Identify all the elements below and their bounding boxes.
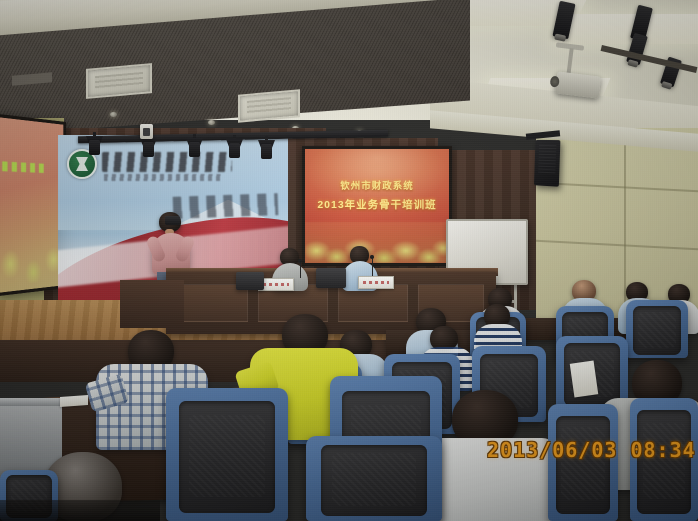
microphone-stem-right — [372, 258, 373, 276]
banner-subtitle-text — [104, 174, 222, 181]
podium — [120, 280, 184, 328]
side-screen-floral-decor — [0, 231, 63, 286]
air-vent-2 — [238, 89, 300, 122]
side-screen-text — [2, 161, 44, 173]
slide-floral-decor — [305, 222, 449, 263]
spotlight-3 — [186, 138, 203, 158]
banner-calligraphy-text — [173, 193, 279, 219]
seat-near-4[interactable] — [548, 404, 618, 521]
seat-near-3[interactable] — [306, 436, 442, 521]
spotlight-1 — [86, 136, 103, 156]
microphone-head-right — [370, 255, 374, 259]
desk-edge-highlight — [0, 398, 66, 406]
desk-notebook — [60, 395, 88, 407]
slide-title-line-1: 钦州市财政系统 — [305, 178, 449, 192]
audience-notepaper-right — [570, 360, 598, 397]
truss-camera-icon — [140, 124, 153, 139]
ceiling-light-panel-2 — [553, 14, 698, 44]
spotlight-4 — [226, 139, 243, 159]
spotlight-2 — [140, 138, 157, 158]
downlight-2 — [208, 120, 215, 125]
spotlight-5 — [258, 140, 275, 160]
main-projection-screen: 钦州市财政系统 2013年业务骨干培训班 — [302, 146, 452, 266]
monitor-dais-center — [236, 272, 264, 290]
slide-title-line-2: 2013年业务骨干培训班 — [305, 197, 449, 212]
photograph-conference-hall: 钦州市财政系统 2013年业务骨干培训班 — [0, 0, 698, 521]
side-projection-screen — [0, 114, 66, 297]
speaker-icon — [534, 140, 560, 187]
air-vent-1 — [86, 63, 152, 99]
downlight-1 — [110, 112, 117, 117]
name-placard-right — [358, 276, 394, 289]
seat-near-1[interactable] — [166, 388, 288, 521]
seat-near-5[interactable] — [630, 398, 698, 521]
foreground-shadow-left — [0, 500, 160, 521]
microphone-stem-left — [300, 262, 301, 278]
banner-title-text — [102, 152, 232, 172]
seat-far-3[interactable] — [626, 300, 688, 358]
monitor-dais-right — [316, 268, 346, 288]
handheld-camera-icon — [165, 216, 180, 225]
microphone-head-left — [298, 259, 302, 263]
